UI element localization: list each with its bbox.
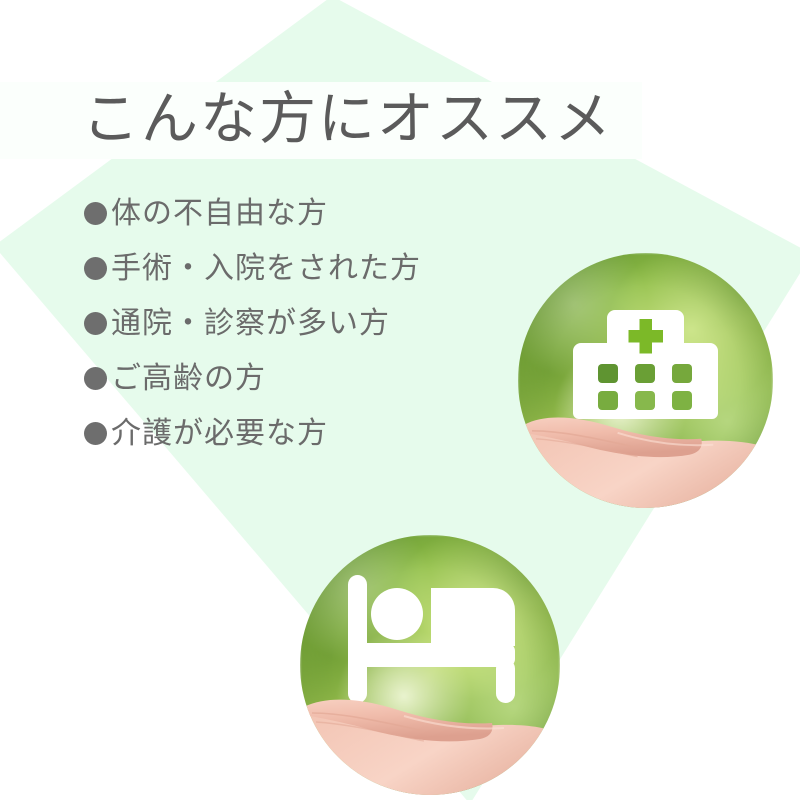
promo-banner: こんな方にオススメ 体の不自由な方 手術・入院をされた方 通院・診察が多い方 ご… [0, 0, 800, 800]
list-item: 手術・入院をされた方 [84, 241, 514, 296]
photo-circle-hospital [518, 253, 773, 508]
recommendation-list: 体の不自由な方 手術・入院をされた方 通院・診察が多い方 ご高齢の方 介護が必要… [84, 186, 514, 461]
photo-circle-bed [300, 535, 560, 795]
list-item: 介護が必要な方 [84, 406, 514, 461]
bullet-dot-icon [84, 202, 107, 225]
open-palm-hand [518, 381, 772, 509]
bullet-dot-icon [84, 422, 107, 445]
list-item-label: ご高齢の方 [111, 361, 266, 397]
list-item-label: 体の不自由な方 [111, 196, 328, 232]
list-item-label: 介護が必要な方 [111, 416, 328, 452]
list-item: 体の不自由な方 [84, 186, 514, 241]
list-item: ご高齢の方 [84, 351, 514, 406]
bullet-dot-icon [84, 367, 107, 390]
list-item-label: 通院・診察が多い方 [111, 306, 390, 342]
bullet-dot-icon [84, 257, 107, 280]
list-item: 通院・診察が多い方 [84, 296, 514, 351]
list-item-label: 手術・入院をされた方 [111, 251, 421, 287]
open-palm-hand [300, 665, 560, 795]
bullet-dot-icon [84, 312, 107, 335]
page-title: こんな方にオススメ [82, 79, 613, 159]
